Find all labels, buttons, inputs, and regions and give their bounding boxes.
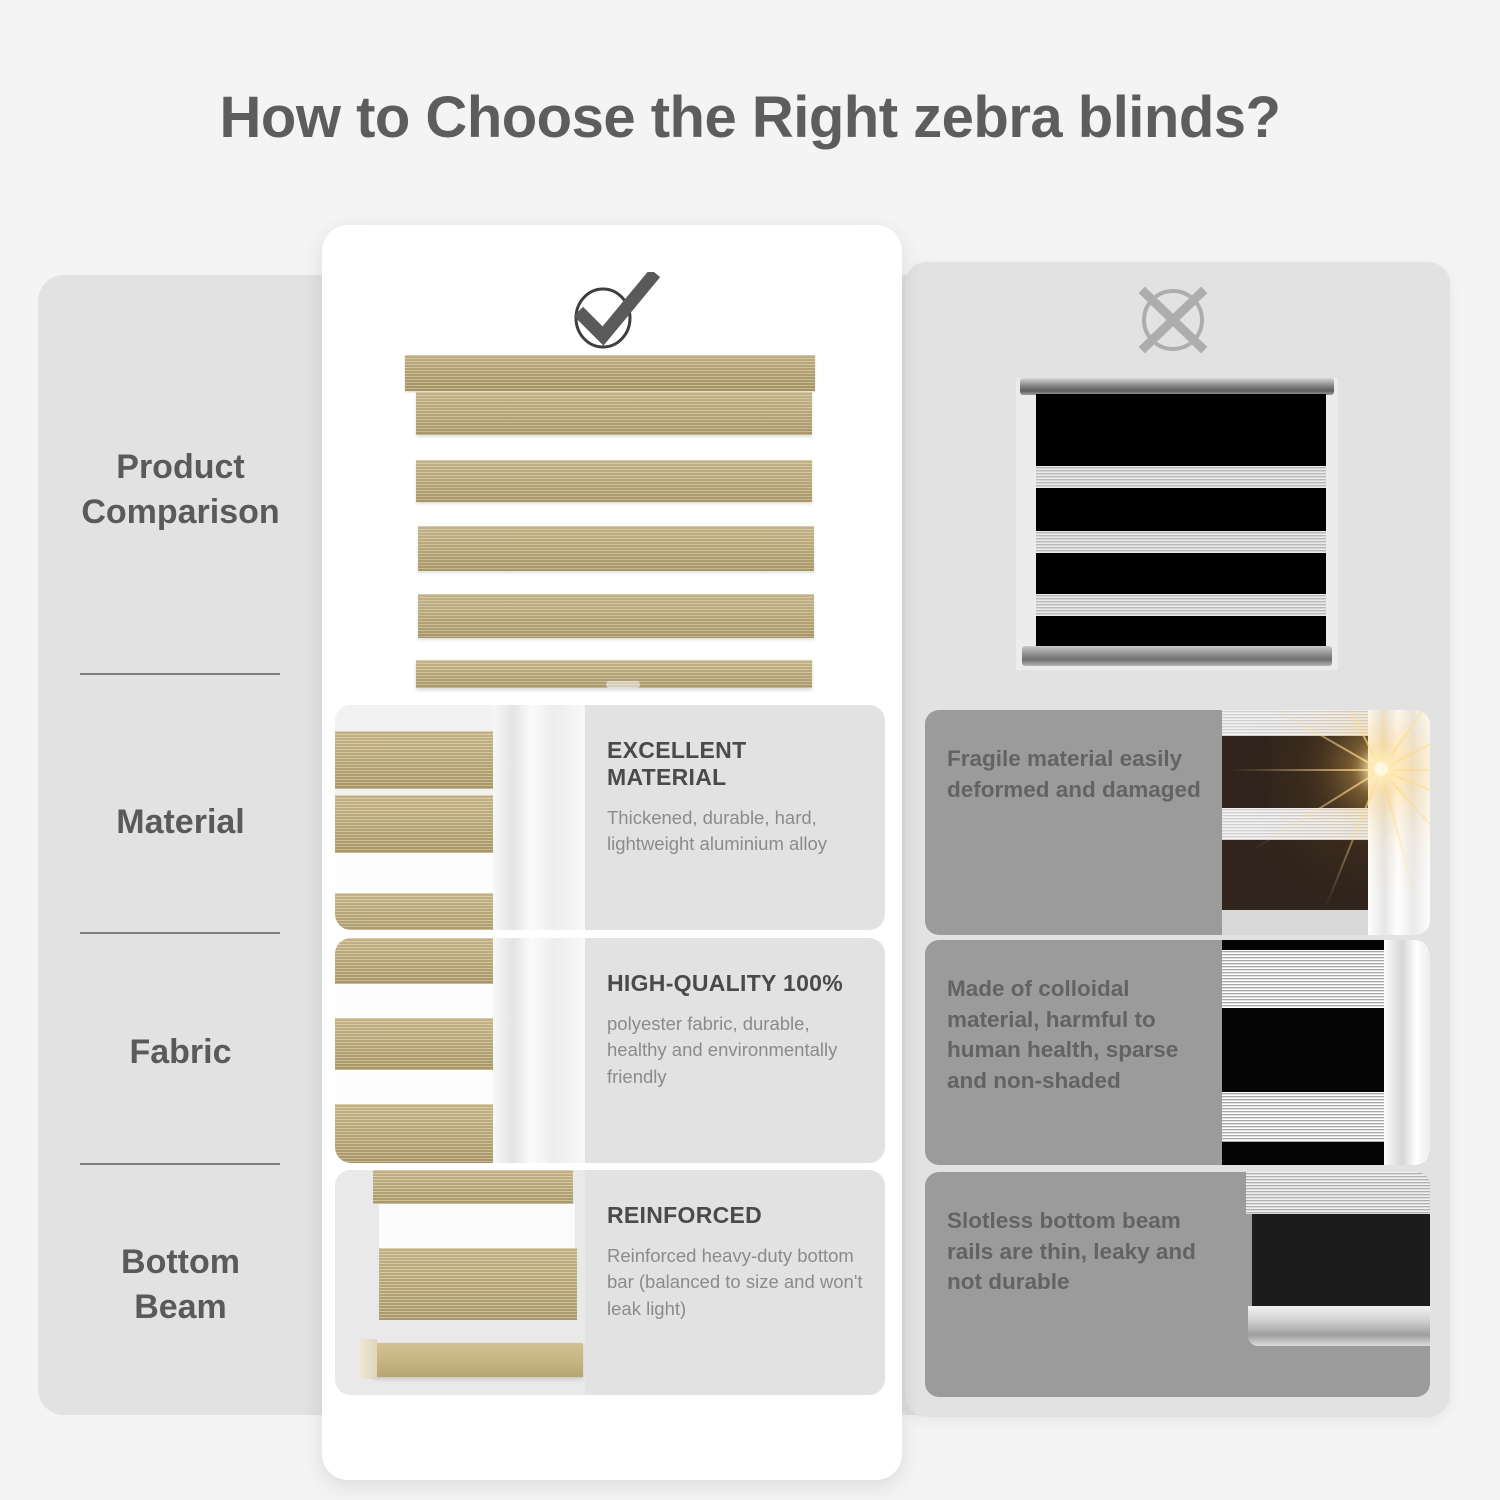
positive-feature-bottom-beam-text: REINFORCED Reinforced heavy-duty bottom … [585,1170,885,1395]
positive-feature-bottom-beam-body: Reinforced heavy-duty bottom bar (balanc… [607,1243,863,1322]
positive-feature-material-title: EXCELLENT MATERIAL [607,737,863,791]
row-label-fabric: Fabric [38,1030,323,1075]
row-label-column: Product Comparison Material Fabric Botto… [38,275,323,1415]
row-label-product-comparison: Product Comparison [38,445,323,535]
window-frame-outer [493,938,585,1163]
closeup-sheer-gap [335,1070,511,1104]
negative-feature-material-text: Fragile material easily deformed and dam… [925,710,1222,935]
closeup-sheer-gap [335,984,511,1018]
row-divider-2 [80,932,280,934]
negative-feature-bottom-beam-image [1222,1172,1430,1397]
closeup-slat [335,731,517,789]
negative-feature-bottom-beam-text: Slotless bottom beam rails are thin, lea… [925,1172,1222,1397]
positive-feature-bottom-beam: REINFORCED Reinforced heavy-duty bottom … [335,1170,885,1395]
black-blind-headrail [1020,378,1334,395]
reinforced-bottom-bar [373,1343,583,1377]
positive-feature-material-body: Thickened, durable, hard, lightweight al… [607,805,863,858]
infographic-root: How to Choose the Right zebra blinds? Pr… [0,0,1500,1500]
black-blind-bottom-rail [1022,646,1332,666]
row-label-product-comparison-line2: Comparison [38,490,323,535]
positive-feature-fabric-image [335,938,585,1163]
blind-bottom-bar [416,660,812,688]
positive-feature-material: EXCELLENT MATERIAL Thickened, durable, h… [335,705,885,930]
closeup-sheer-gap [379,1204,575,1248]
row-label-bottom-beam: Bottom Beam [38,1240,323,1330]
negative-feature-material-image [1222,710,1430,935]
closeup-slat [335,893,513,930]
closeup-slat [379,1248,577,1320]
bottom-bar-end-cap [359,1339,377,1379]
beige-zebra-blind-image [400,355,820,705]
negative-feature-fabric-text: Made of colloidal material, harmful to h… [925,940,1222,1165]
blind-slat [416,392,812,435]
light-ray [1381,769,1430,771]
light-ray [1231,769,1381,771]
closeup-sheer-gap [335,853,505,893]
sun-flare [1374,762,1388,776]
row-label-material: Material [38,800,323,845]
slotless-rail-illustration [1222,1172,1430,1397]
blind-bottom-bar-grip [606,681,640,688]
row-divider-3 [80,1163,280,1165]
positive-feature-bottom-beam-title: REINFORCED [607,1202,863,1229]
sparse-fabric-illustration [1222,940,1430,1165]
black-blind-sheer-band [1036,466,1326,488]
black-blind-sheer-band [1036,531,1326,553]
check-circle-icon [563,272,663,352]
negative-feature-material: Fragile material easily deformed and dam… [925,710,1430,935]
positive-feature-fabric-body: polyester fabric, durable, healthy and e… [607,1011,863,1090]
closeup-slat [335,795,503,853]
closeup-slat [373,1170,573,1204]
black-blind-fabric [1036,394,1326,647]
cross-circle-icon [1128,282,1218,357]
light-leak-illustration [1222,710,1430,935]
window-jamb [1384,940,1430,1165]
black-blind-sheer-band [1036,594,1326,616]
negative-feature-bottom-beam: Slotless bottom beam rails are thin, lea… [925,1172,1430,1397]
positive-feature-bottom-beam-image [335,1170,585,1395]
positive-feature-material-text: EXCELLENT MATERIAL Thickened, durable, h… [585,705,885,930]
thin-bottom-rail [1248,1306,1430,1346]
negative-feature-fabric: Made of colloidal material, harmful to h… [925,940,1430,1165]
page-title: How to Choose the Right zebra blinds? [0,84,1500,151]
blind-headrail [405,355,815,391]
positive-feature-material-image [335,705,585,930]
black-zebra-blind-image [1016,378,1338,670]
positive-feature-fabric-title: HIGH-QUALITY 100% [607,970,863,997]
closeup-slat [335,1018,515,1070]
positive-feature-fabric-text: HIGH-QUALITY 100% polyester fabric, dura… [585,938,885,1163]
closeup-slat [335,1104,517,1163]
material-closeup-illustration [335,705,585,930]
positive-feature-fabric: HIGH-QUALITY 100% polyester fabric, dura… [335,938,885,1163]
row-label-bottom-beam-line1: Bottom [38,1240,323,1285]
window-frame-outer [493,705,585,930]
slot-dark-band [1252,1214,1430,1306]
blind-slat [418,526,814,571]
negative-feature-fabric-image [1222,940,1430,1165]
fabric-closeup-illustration [335,938,585,1163]
bottom-beam-closeup-illustration [335,1170,585,1395]
row-divider-1 [80,673,280,675]
blind-slat [418,594,814,638]
slot-sheer-band [1246,1172,1430,1214]
closeup-slat [335,938,515,984]
row-label-product-comparison-line1: Product [38,445,323,490]
blind-slat [416,460,812,502]
row-label-bottom-beam-line2: Beam [38,1285,323,1330]
